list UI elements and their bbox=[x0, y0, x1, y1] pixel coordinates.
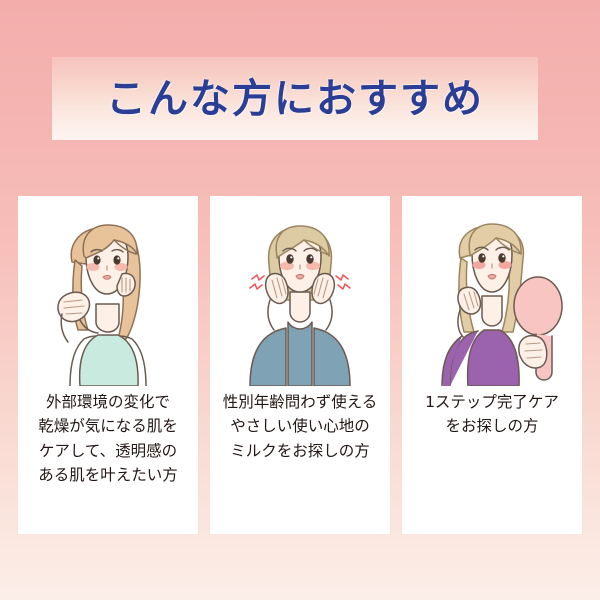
caption-line: 1ステップ完了ケア bbox=[425, 390, 559, 414]
caption-dry-skin: 外部環境の変化で 乾燥が気になる肌を ケアして、透明感の ある肌を叶えたい方 bbox=[18, 386, 198, 534]
page-title: こんな方におすすめ bbox=[106, 79, 484, 119]
illustration-woman-touching-face-mint-top bbox=[18, 196, 198, 386]
feature-card-one-step: 1ステップ完了ケア をお探しの方 bbox=[402, 196, 582, 534]
caption-line: 性別年齢問わず使える bbox=[223, 390, 378, 414]
title-banner: こんな方におすすめ bbox=[52, 57, 538, 140]
promo-banner-root: こんな方におすすめ bbox=[0, 0, 600, 600]
caption-line: やさしい使い心地の bbox=[223, 414, 378, 438]
caption-line: ケアして、透明感の bbox=[38, 439, 178, 463]
caption-gentle-milk: 性別年齢問わず使える やさしい使い心地の ミルクをお探しの方 bbox=[210, 386, 390, 534]
illustration-woman-holding-hand-mirror-purple-top bbox=[402, 196, 582, 386]
caption-one-step: 1ステップ完了ケア をお探しの方 bbox=[402, 386, 582, 534]
feature-card-gentle-milk: 性別年齢問わず使える やさしい使い心地の ミルクをお探しの方 bbox=[210, 196, 390, 534]
caption-lines: 外部環境の変化で 乾燥が気になる肌を ケアして、透明感の ある肌を叶えたい方 bbox=[38, 390, 178, 488]
caption-lines: 1ステップ完了ケア をお探しの方 bbox=[425, 390, 559, 439]
caption-line: ミルクをお探しの方 bbox=[223, 439, 378, 463]
caption-lines: 性別年齢問わず使える やさしい使い心地の ミルクをお探しの方 bbox=[223, 390, 378, 463]
caption-line: 外部環境の変化で bbox=[38, 390, 178, 414]
caption-line: をお探しの方 bbox=[425, 414, 559, 438]
caption-line: 乾燥が気になる肌を bbox=[38, 414, 178, 438]
hand-mirror-glass bbox=[514, 277, 562, 335]
feature-card-dry-skin: 外部環境の変化で 乾燥が気になる肌を ケアして、透明感の ある肌を叶えたい方 bbox=[18, 196, 198, 534]
illustration-woman-hands-on-cheeks-blue-top bbox=[210, 196, 390, 386]
feature-card-list: 外部環境の変化で 乾燥が気になる肌を ケアして、透明感の ある肌を叶えたい方 bbox=[18, 196, 582, 534]
caption-line: ある肌を叶えたい方 bbox=[38, 463, 178, 487]
